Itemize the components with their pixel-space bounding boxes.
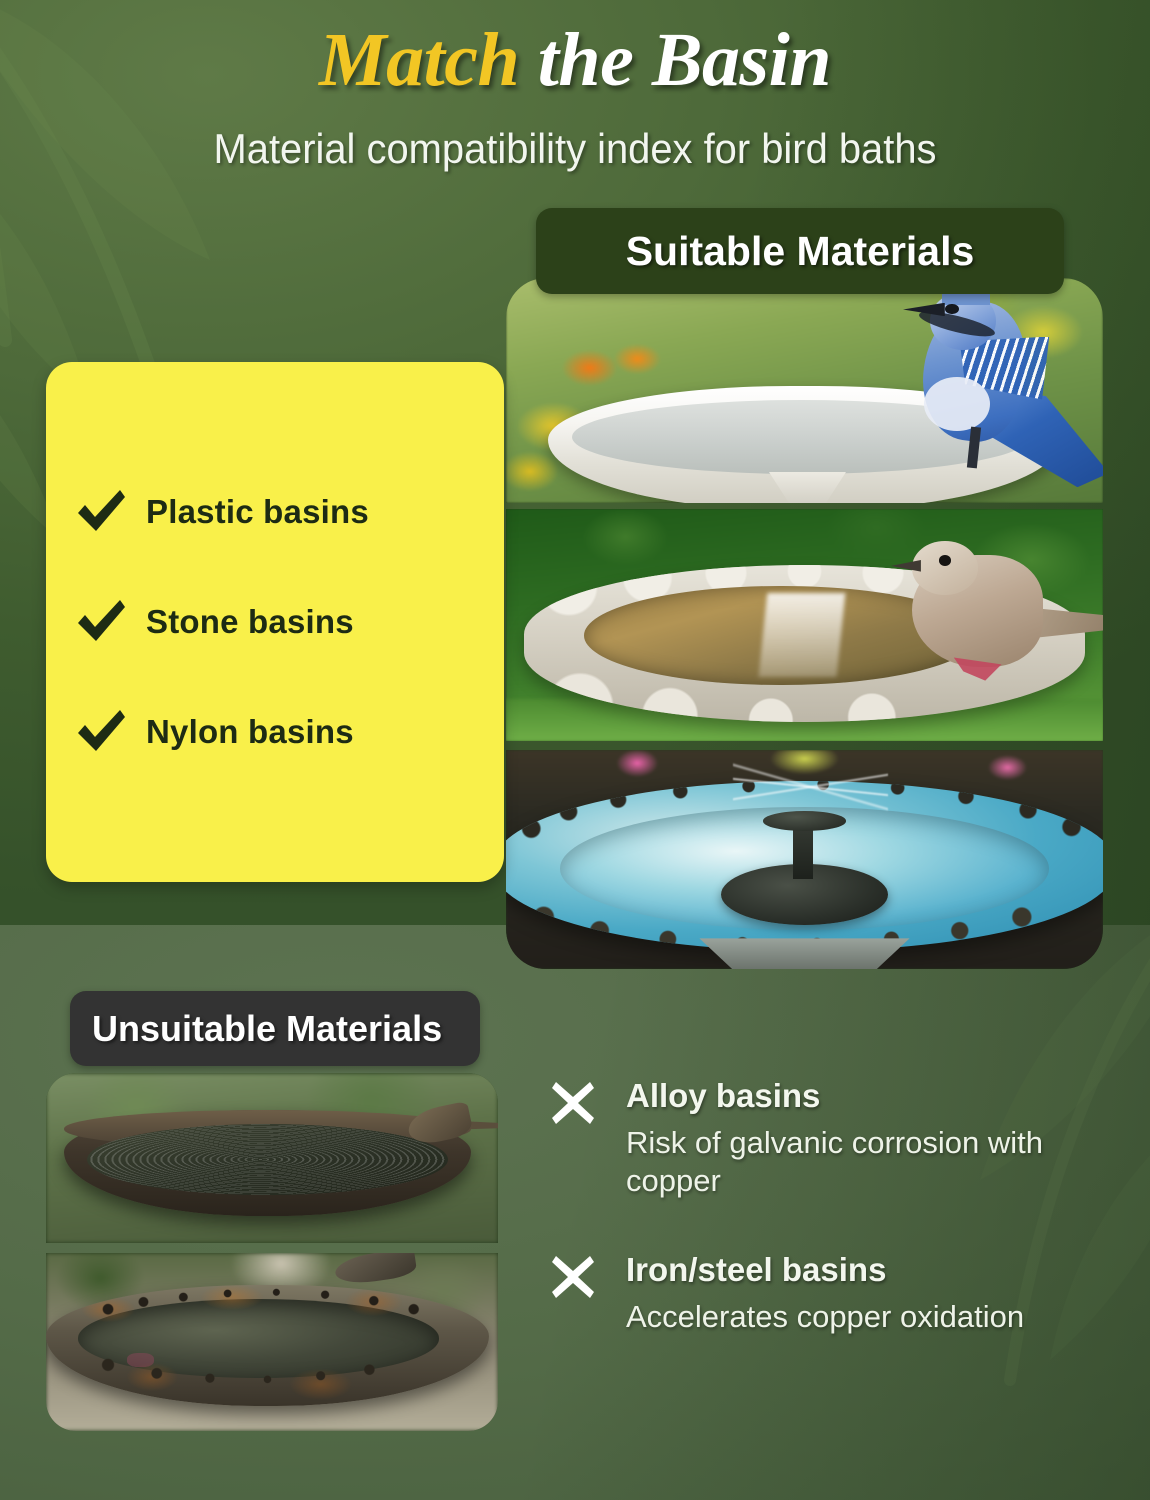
badge-unsuitable-materials: Unsuitable Materials: [70, 991, 480, 1066]
list-item: Nylon basins: [72, 703, 504, 761]
unsuitable-item-label-0: Alloy basins: [626, 1078, 1116, 1114]
unsuitable-item-description-1: Accelerates copper oxidation: [626, 1298, 1116, 1336]
list-item: Stone basins: [72, 593, 504, 651]
list-item: Plastic basins: [72, 483, 504, 541]
x-icon: [550, 1254, 596, 1300]
photo-rusted-metal-bath: [46, 1073, 498, 1243]
x-icon: [550, 1080, 596, 1126]
suitable-item-label-1: Stone basins: [146, 603, 354, 641]
suitable-materials-card: Plastic basins Stone basins Nylon basins: [46, 362, 504, 882]
unsuitable-item-label-1: Iron/steel basins: [626, 1252, 1116, 1288]
check-icon: [72, 483, 130, 541]
list-item: Iron/steel basins Accelerates copper oxi…: [536, 1252, 1116, 1336]
check-icon: [72, 593, 130, 651]
photo-stone-bath-dove: [506, 509, 1103, 741]
suitable-item-label-0: Plastic basins: [146, 493, 369, 531]
photo-ceramic-bath-bluejay: [506, 278, 1103, 503]
photo-corroded-metal-bath: [46, 1253, 498, 1431]
badge-unsuitable-label: Unsuitable Materials: [92, 1008, 442, 1050]
unsuitable-materials-list: Alloy basins Risk of galvanic corrosion …: [536, 1078, 1116, 1388]
suitable-item-label-2: Nylon basins: [146, 713, 354, 751]
infographic-poster: Match the Basin Material compatibility i…: [0, 0, 1150, 1500]
page-subtitle: Material compatibility index for bird ba…: [29, 128, 1122, 170]
badge-suitable-materials: Suitable Materials: [536, 208, 1064, 294]
page-title: Match the Basin: [0, 22, 1150, 98]
title-rest: the Basin: [538, 18, 831, 102]
list-item: Alloy basins Risk of galvanic corrosion …: [536, 1078, 1116, 1200]
check-icon: [72, 703, 130, 761]
photo-teal-bath-fountain: [506, 750, 1103, 969]
title-accent-word: Match: [319, 18, 519, 102]
unsuitable-item-description-0: Risk of galvanic corrosion with copper: [626, 1124, 1116, 1200]
badge-suitable-label: Suitable Materials: [626, 228, 975, 275]
